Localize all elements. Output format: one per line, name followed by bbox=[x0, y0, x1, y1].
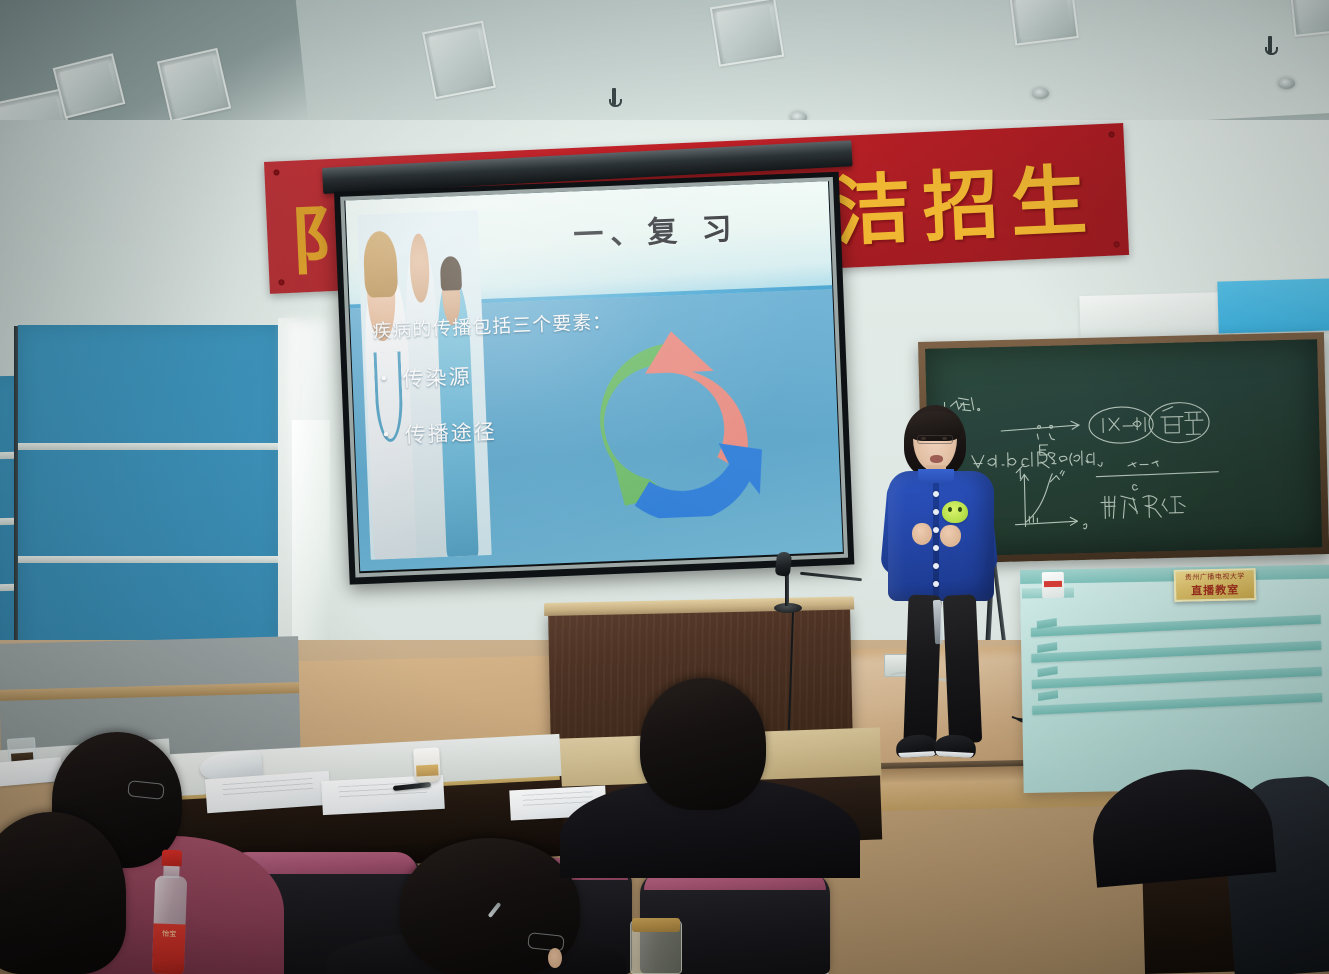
presenter-mouth bbox=[930, 455, 943, 463]
wall-panel-strip bbox=[18, 443, 280, 450]
presenter bbox=[876, 405, 1008, 763]
presenter-button-placket bbox=[933, 483, 939, 597]
blue-arrow bbox=[633, 441, 765, 521]
presenter-shoe-left bbox=[895, 734, 938, 758]
tissue-box bbox=[1042, 572, 1064, 598]
classroom-photo: 阝 廉洁招生 一、复 习 疾病的传播包括三个要素： 传染源 传播途径 bbox=[0, 0, 1329, 974]
ceiling-hook bbox=[612, 88, 616, 105]
presenter-legs bbox=[904, 595, 980, 743]
slide-bullet-1: 传染源 bbox=[379, 361, 473, 395]
wall-panel-strip bbox=[18, 556, 280, 563]
ceiling-vent bbox=[710, 0, 785, 67]
microphone-icon bbox=[775, 551, 792, 576]
ceiling-downlight bbox=[1278, 78, 1295, 89]
presenter-glasses bbox=[917, 435, 953, 444]
cardigan-logo-patch bbox=[942, 501, 968, 523]
slide-bullet-2: 传播途径 bbox=[381, 415, 498, 450]
audience-ear bbox=[548, 948, 562, 968]
ceiling-vent bbox=[1290, 0, 1329, 37]
paper-cup bbox=[413, 747, 441, 782]
slide-content: 一、复 习 疾病的传播包括三个要素： 传染源 传播途径 bbox=[345, 181, 842, 571]
water-bottle: 怡宝 bbox=[150, 849, 190, 974]
plaque-room-name: 直播教室 bbox=[1191, 581, 1239, 598]
ceiling-vent bbox=[1009, 0, 1079, 46]
ceiling-vent bbox=[422, 21, 496, 100]
jar-lid bbox=[632, 918, 680, 932]
control-console bbox=[1020, 573, 1329, 793]
blue-board-strip bbox=[1217, 278, 1329, 333]
presenter-left-hand bbox=[912, 523, 932, 545]
bottle-label-text: 怡宝 bbox=[153, 929, 185, 939]
room-name-plaque: 贵州广播电视大学 直播教室 bbox=[1174, 568, 1257, 602]
audience-head bbox=[640, 678, 766, 810]
bottle-label: 怡宝 bbox=[152, 923, 186, 974]
presenter-right-hand bbox=[940, 525, 961, 547]
projector-screen: 一、复 习 疾病的传播包括三个要素： 传染源 传播途径 bbox=[334, 172, 854, 585]
ceiling-hook bbox=[1268, 36, 1272, 53]
bottle-cap bbox=[162, 850, 183, 867]
ceiling-downlight bbox=[1032, 88, 1049, 99]
three-arrow-cycle-diagram bbox=[573, 317, 781, 521]
